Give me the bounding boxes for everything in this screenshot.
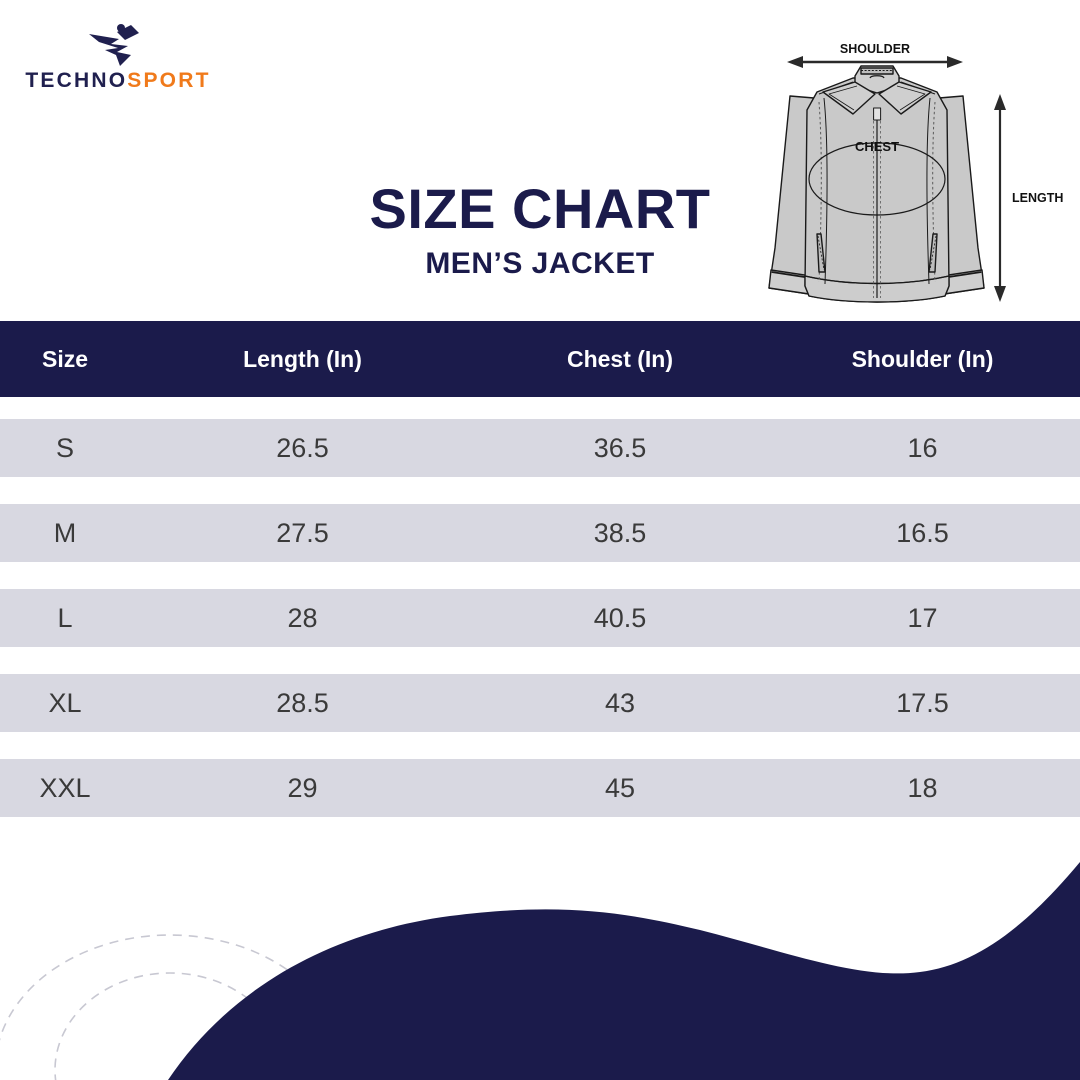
- length-label: LENGTH: [1012, 191, 1063, 205]
- cell-shoulder: 16.5: [765, 518, 1080, 549]
- table-row: S 26.5 36.5 16: [0, 419, 1080, 477]
- column-header-length: Length (In): [130, 346, 475, 373]
- brand-name-part2: SPORT: [127, 69, 210, 92]
- column-header-size: Size: [0, 346, 130, 373]
- shoulder-label: SHOULDER: [840, 42, 910, 56]
- brand-name-part1: TECHNO: [25, 69, 127, 92]
- size-chart-table: Size Length (In) Chest (In) Shoulder (In…: [0, 321, 1080, 844]
- mens-jacket-diagram: SHOULDER LENGTH: [757, 36, 1077, 321]
- techno-sport-bird-mark: [87, 22, 149, 66]
- dashed-arcs: [0, 935, 345, 1080]
- cell-length: 28: [130, 603, 475, 634]
- brand-wordmark: TECHNOSPORT: [18, 70, 218, 91]
- cell-length: 26.5: [130, 433, 475, 464]
- cell-shoulder: 17: [765, 603, 1080, 634]
- cell-shoulder: 18: [765, 773, 1080, 804]
- cell-chest: 36.5: [475, 433, 765, 464]
- brand-logo: TECHNOSPORT: [18, 22, 218, 91]
- table-body: S 26.5 36.5 16 M 27.5 38.5 16.5 L 28 40.…: [0, 397, 1080, 817]
- cell-size: S: [0, 433, 130, 464]
- length-measure-arrow: [994, 94, 1006, 302]
- table-row: L 28 40.5 17: [0, 589, 1080, 647]
- cell-size: L: [0, 603, 130, 634]
- cell-shoulder: 16: [765, 433, 1080, 464]
- column-header-shoulder: Shoulder (In): [765, 346, 1080, 373]
- cell-length: 28.5: [130, 688, 475, 719]
- table-row: M 27.5 38.5 16.5: [0, 504, 1080, 562]
- navy-wave-shape: [168, 862, 1080, 1080]
- cell-size: M: [0, 518, 130, 549]
- chest-label: CHEST: [855, 139, 899, 154]
- bottom-decoration: [0, 820, 1080, 1080]
- column-header-chest: Chest (In): [475, 346, 765, 373]
- table-row: XXL 29 45 18: [0, 759, 1080, 817]
- cell-chest: 45: [475, 773, 765, 804]
- cell-size: XXL: [0, 773, 130, 804]
- table-row: XL 28.5 43 17.5: [0, 674, 1080, 732]
- jacket-illustration: [769, 66, 984, 302]
- cell-length: 27.5: [130, 518, 475, 549]
- table-header-row: Size Length (In) Chest (In) Shoulder (In…: [0, 321, 1080, 397]
- cell-chest: 40.5: [475, 603, 765, 634]
- cell-chest: 38.5: [475, 518, 765, 549]
- cell-shoulder: 17.5: [765, 688, 1080, 719]
- cell-chest: 43: [475, 688, 765, 719]
- cell-size: XL: [0, 688, 130, 719]
- cell-length: 29: [130, 773, 475, 804]
